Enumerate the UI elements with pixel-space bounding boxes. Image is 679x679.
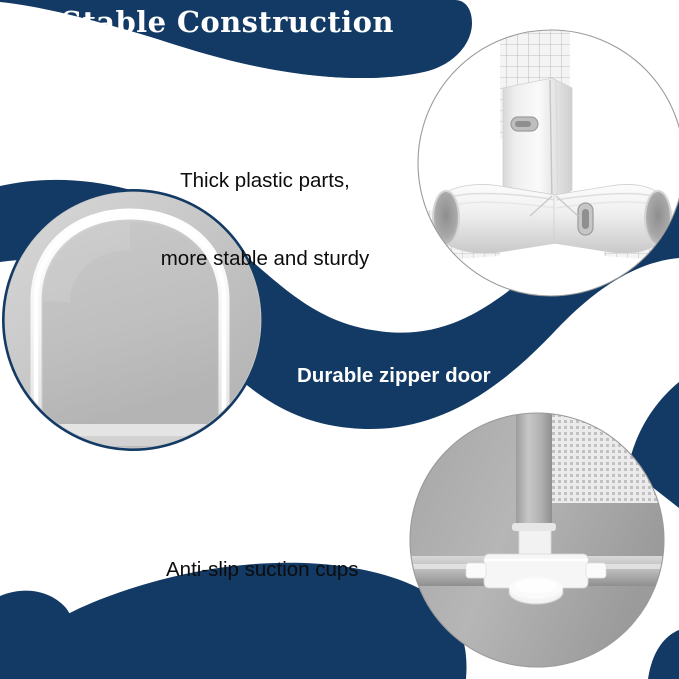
feature-label-durable-zipper-door: Durable zipper door (Not mesh) (297, 311, 557, 519)
feature-label-thick-plastic-parts: Thick plastic parts, more stable and stu… (120, 116, 410, 324)
feature-line-1: Anti-slip suction cups (166, 557, 466, 583)
infographic-root: Stable Construction Thick plastic parts,… (0, 0, 679, 679)
feature-label-anti-slip-suction-cups: Anti-slip suction cups (166, 505, 466, 635)
feature-line-2: more stable and sturdy (120, 246, 410, 272)
feature-line-1: Thick plastic parts, (120, 168, 410, 194)
suction-cup (509, 577, 563, 604)
feature-line-1: Durable zipper door (297, 363, 557, 389)
page-title: Stable Construction (0, 0, 455, 44)
feature-line-2: (Not mesh) (297, 441, 557, 467)
